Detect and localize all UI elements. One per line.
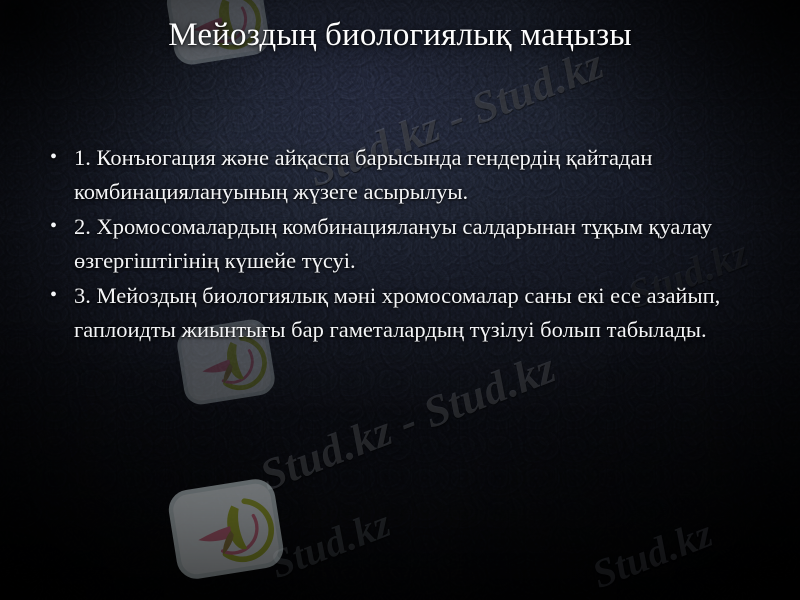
bullet-item-text: 2. Хромосомалардың комбинациялануы салда… bbox=[74, 214, 712, 273]
presentation-slide: Stud.kz - Stud.kz Stud.kz - Stud.kz Stud… bbox=[0, 0, 800, 600]
bullet-item-text: 1. Конъюгация және айқаспа барысында ген… bbox=[74, 145, 652, 204]
slide-title: Мейоздың биологиялық маңызы bbox=[0, 17, 800, 53]
slide-content: Мейоздың биологиялық маңызы 1. Конъюгаци… bbox=[0, 0, 800, 600]
bullet-item: 1. Конъюгация және айқаспа барысында ген… bbox=[42, 141, 768, 209]
bullet-list: 1. Конъюгация және айқаспа барысында ген… bbox=[42, 141, 768, 348]
bullet-item: 2. Хромосомалардың комбинациялануы салда… bbox=[42, 210, 768, 278]
bullet-item-text: 3. Мейоздың биологиялық мәні хромосомала… bbox=[74, 283, 720, 342]
bullet-item: 3. Мейоздың биологиялық мәні хромосомала… bbox=[42, 279, 768, 347]
